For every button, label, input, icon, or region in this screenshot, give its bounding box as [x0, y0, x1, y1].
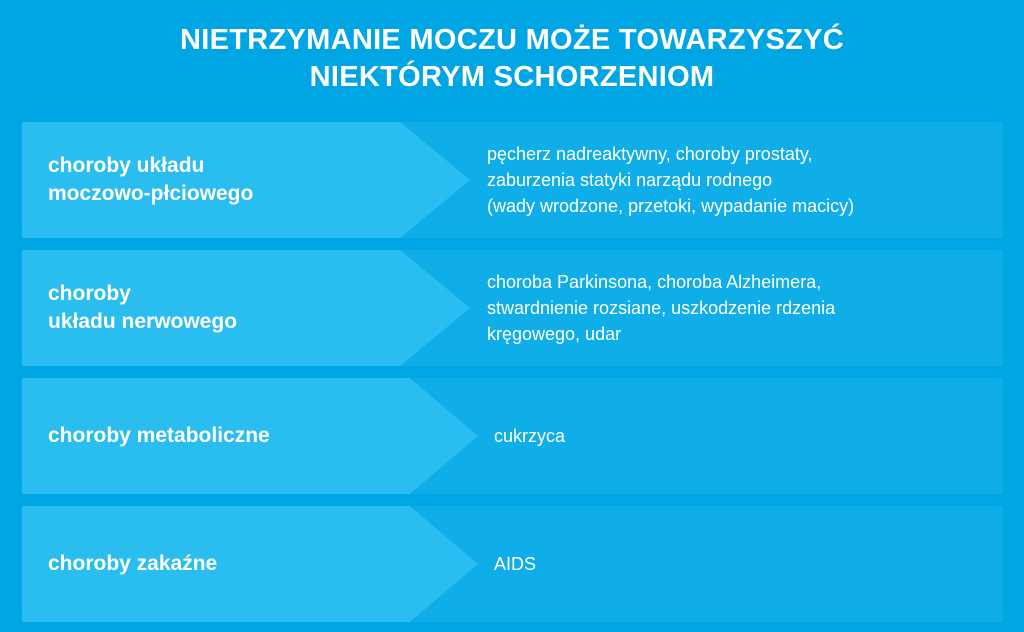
page-title-line-1: NIETRZYMANIE MOCZU MOŻE TOWARZYSZYĆ	[0, 22, 1024, 59]
category-detail: choroba Parkinsona, choroba Alzheimera, …	[487, 250, 997, 366]
category-label: choroby metaboliczne	[48, 378, 388, 494]
category-detail-line: stwardnienie rozsiane, uszkodzenie rdzen…	[487, 295, 997, 321]
category-label-line: choroby metaboliczne	[48, 422, 388, 450]
category-row: choroby układu moczowo-płciowego pęcherz…	[22, 122, 1003, 238]
category-label-line: choroby układu	[48, 152, 388, 180]
category-label: choroby zakaźne	[48, 506, 388, 622]
category-label-line: moczowo-płciowego	[48, 180, 388, 208]
category-row: choroby zakaźne AIDS	[22, 506, 1003, 622]
category-row: choroby układu nerwowego choroba Parkins…	[22, 250, 1003, 366]
page-title-line-2: NIEKTÓRYM SCHORZENIOM	[0, 59, 1024, 96]
category-detail-line: AIDS	[494, 551, 1003, 577]
category-detail: AIDS	[494, 506, 1003, 622]
category-label-line: choroby zakaźne	[48, 550, 388, 578]
category-detail-line: pęcherz nadreaktywny, choroby prostaty,	[487, 141, 997, 167]
category-detail-line: cukrzyca	[494, 423, 1003, 449]
category-detail-line: kręgowego, udar	[487, 321, 997, 347]
category-row: choroby metaboliczne cukrzyca	[22, 378, 1003, 494]
category-label-line: układu nerwowego	[48, 308, 388, 336]
category-label-line: choroby	[48, 280, 388, 308]
category-detail-line: (wady wrodzone, przetoki, wypadanie maci…	[487, 193, 997, 219]
infographic-root: NIETRZYMANIE MOCZU MOŻE TOWARZYSZYĆ NIEK…	[0, 0, 1024, 632]
category-label: choroby układu moczowo-płciowego	[48, 122, 388, 238]
category-detail-line: choroba Parkinsona, choroba Alzheimera,	[487, 269, 997, 295]
page-title: NIETRZYMANIE MOCZU MOŻE TOWARZYSZYĆ NIEK…	[0, 22, 1024, 96]
category-detail-line: zaburzenia statyki narządu rodnego	[487, 167, 997, 193]
category-detail: cukrzyca	[494, 378, 1003, 494]
category-label: choroby układu nerwowego	[48, 250, 388, 366]
category-detail: pęcherz nadreaktywny, choroby prostaty, …	[487, 122, 997, 238]
